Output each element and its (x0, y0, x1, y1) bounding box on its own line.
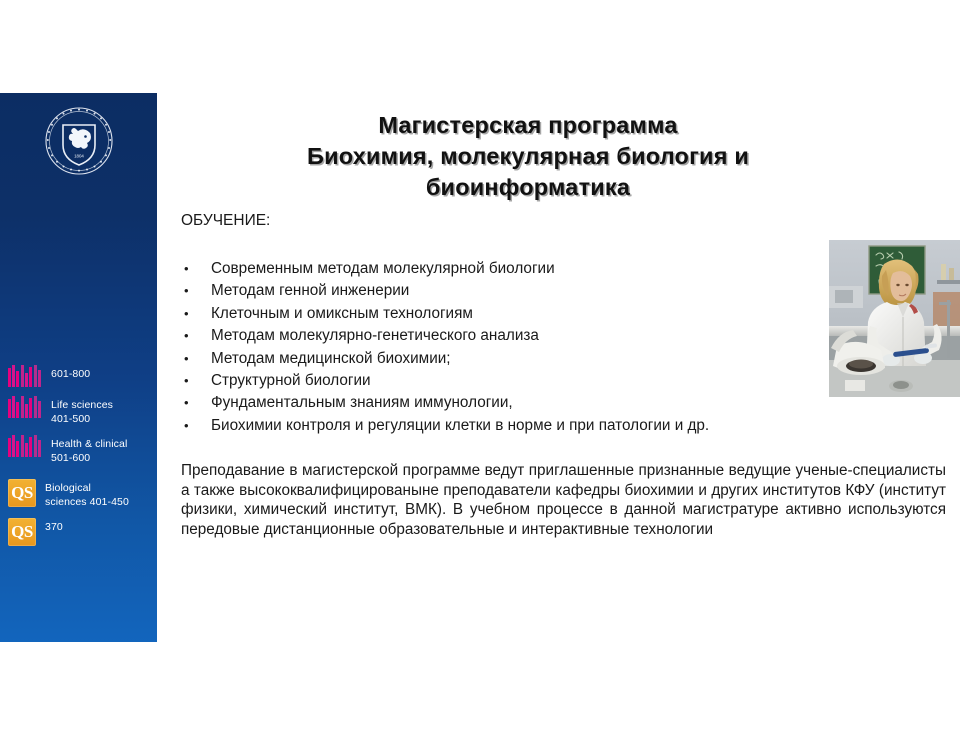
slide-canvas: 1804 (0, 0, 980, 735)
program-description-paragraph: Преподавание в магистерской программе ве… (181, 461, 946, 539)
list-item: •Клеточным и омиксным технологиям (181, 303, 861, 325)
list-item: •Современным методам молекулярной биолог… (181, 258, 861, 280)
title-line-1: Магистерская программа (178, 110, 878, 141)
slide-title: Магистерская программа Биохимия, молекул… (178, 110, 878, 203)
bullet-icon: • (184, 370, 189, 392)
laboratory-researcher-photo (829, 240, 960, 397)
bullet-icon: • (184, 280, 189, 302)
bullet-icon: • (184, 325, 189, 347)
ranking-row: QS Biological sciences 401-450 (0, 479, 157, 509)
list-item-label: Структурной биологии (211, 370, 861, 392)
list-item-label: Методам генной инженерии (211, 280, 861, 302)
list-item-label: Клеточным и омиксным технологиям (211, 303, 861, 325)
list-item: •Фундаментальным знаниям иммунологии, (181, 392, 861, 414)
list-item-label: Фундаментальным знаниям иммунологии, (211, 392, 861, 414)
bullet-icon: • (184, 415, 189, 437)
list-item: •Биохимии контроля и регуляции клетки в … (181, 415, 861, 437)
bullet-icon: • (184, 258, 189, 280)
bullet-icon: • (184, 348, 189, 370)
training-topics-list: •Современным методам молекулярной биолог… (181, 258, 861, 437)
list-item: •Структурной биологии (181, 370, 861, 392)
svg-text:1804: 1804 (74, 154, 84, 159)
list-item: •Методам медицинской биохимии; (181, 348, 861, 370)
bullet-icon: • (184, 392, 189, 414)
rankings-list: 601-800 (0, 365, 157, 555)
kazan-federal-university-emblem-icon: 1804 (43, 105, 115, 177)
bullet-icon: • (184, 303, 189, 325)
qs-logo-icon: QS (8, 479, 36, 507)
times-higher-education-logo-icon (8, 396, 42, 418)
ranking-row: Health & clinical 501-600 (0, 435, 157, 465)
list-item-label: Современным методам молекулярной биологи… (211, 258, 861, 280)
list-item: •Методам генной инженерии (181, 280, 861, 302)
list-item: •Методам молекулярно-генетического анали… (181, 325, 861, 347)
ranking-row: Life sciences 401-500 (0, 396, 157, 426)
left-blue-sidebar: 1804 (0, 93, 157, 642)
list-item-label: Методам молекулярно-генетического анализ… (211, 325, 861, 347)
ranking-value: Biological sciences 401-450 (45, 479, 129, 509)
times-higher-education-logo-icon (8, 365, 42, 387)
qs-logo-icon: QS (8, 518, 36, 546)
list-item-label: Методам медицинской биохимии; (211, 348, 861, 370)
title-line-3: биоинформатика (178, 172, 878, 203)
section-heading-training: ОБУЧЕНИЕ: (181, 211, 270, 231)
ranking-value: 370 (45, 518, 63, 534)
ranking-row: 601-800 (0, 365, 157, 387)
times-higher-education-logo-icon (8, 435, 42, 457)
ranking-row: QS 370 (0, 518, 157, 546)
title-line-2: Биохимия, молекулярная биология и (178, 141, 878, 172)
ranking-value: 601-800 (51, 365, 90, 381)
list-item-label: Биохимии контроля и регуляции клетки в н… (211, 415, 861, 437)
ranking-value: Life sciences 401-500 (51, 396, 113, 426)
ranking-value: Health & clinical 501-600 (51, 435, 127, 465)
